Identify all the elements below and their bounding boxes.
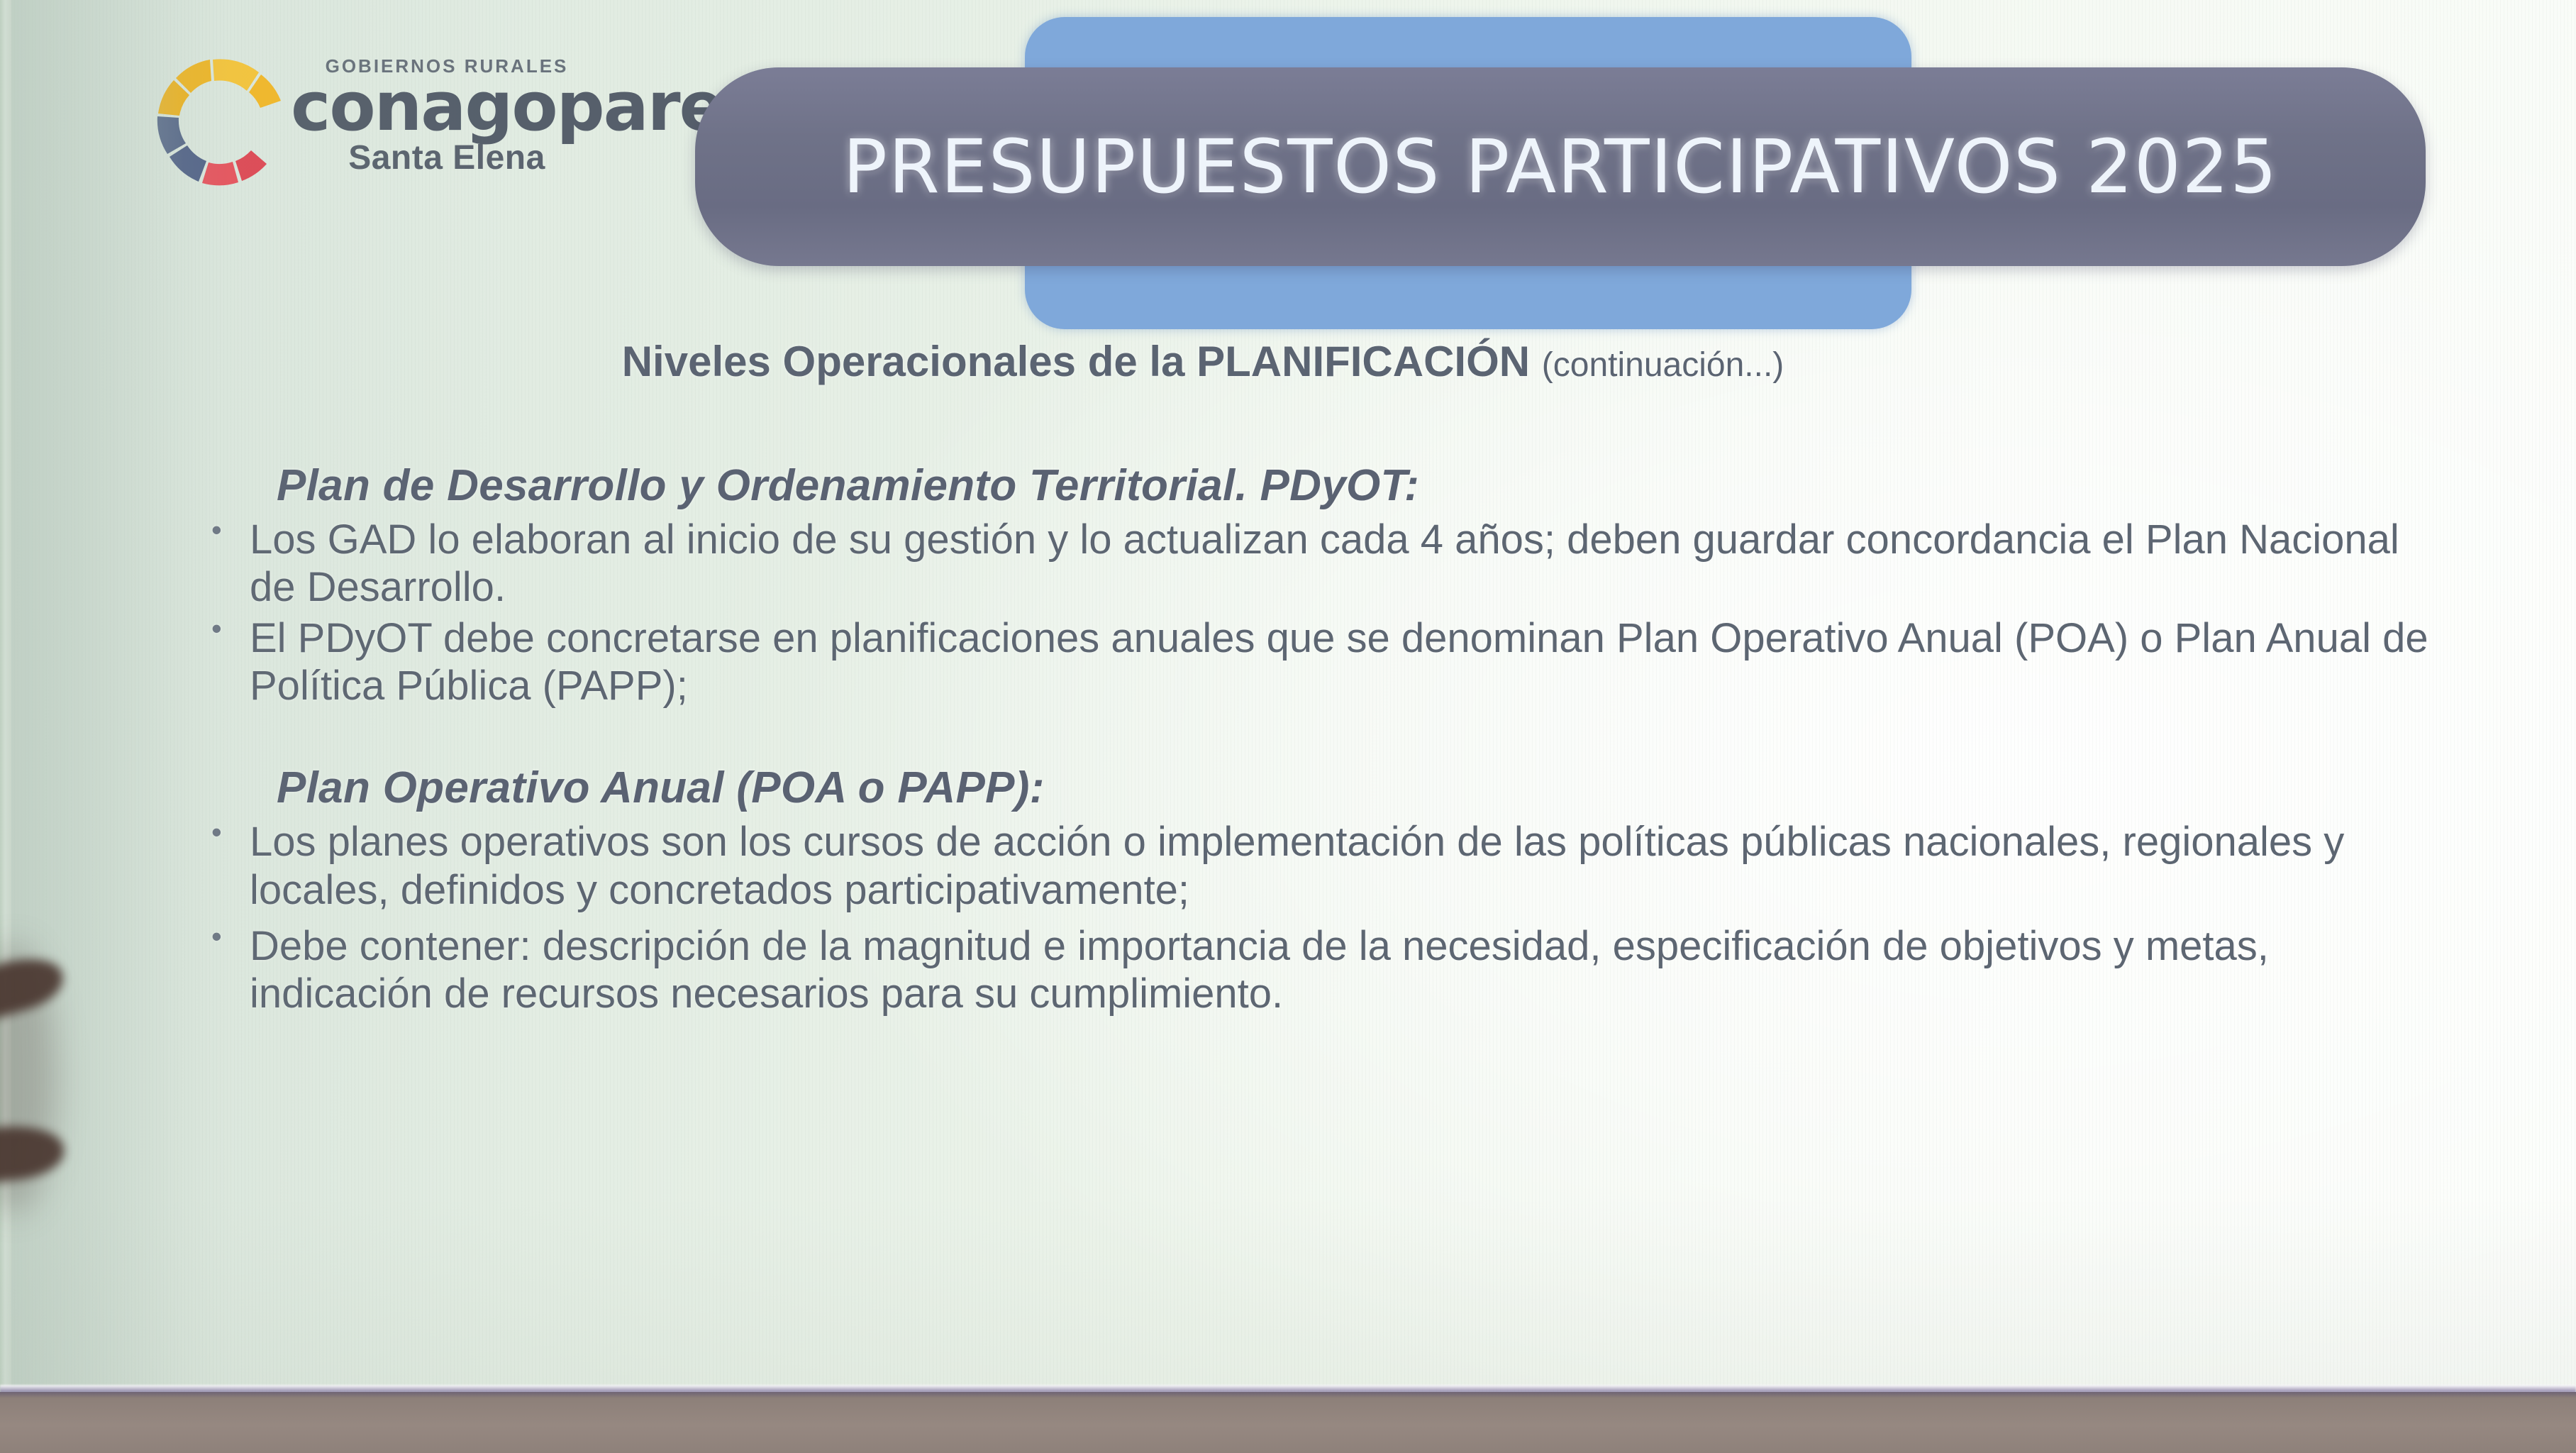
title-banner: PRESUPUESTOS PARTICIPATIVOS 2025 <box>695 67 2426 266</box>
logo-wordmark-group: GOBIERNOS RURALES conagopare Santa Elena <box>291 57 603 175</box>
conagopare-logo-mark-icon <box>149 51 291 193</box>
list-item: Debe contener: descripción de la magnitu… <box>199 922 2370 1018</box>
slide-title: PRESUPUESTOS PARTICIPATIVOS 2025 <box>843 123 2278 210</box>
wall-below-screen <box>0 1392 2576 1453</box>
section-heading-pdyot: Plan de Desarrollo y Ordenamiento Territ… <box>277 463 2576 509</box>
section-poa: Plan Operativo Anual (POA o PAPP): Los p… <box>0 765 2576 1017</box>
bullet-list-poa: Los planes operativos son los cursos de … <box>199 818 2370 1017</box>
list-item: Los GAD lo elaboran al inicio de su gest… <box>199 516 2455 612</box>
section-pdyot: Plan de Desarrollo y Ordenamiento Territ… <box>0 463 2576 709</box>
list-item: El PDyOT debe concretarse en planificaci… <box>199 614 2455 710</box>
hand-finger-lower <box>0 1121 67 1186</box>
section-heading-poa: Plan Operativo Anual (POA o PAPP): <box>277 765 2576 811</box>
logo-wordmark: conagopare <box>291 77 603 138</box>
conagopare-logo: GOBIERNOS RURALES conagopare Santa Elena <box>149 44 603 207</box>
bullet-list-pdyot: Los GAD lo elaboran al inicio de su gest… <box>199 516 2455 709</box>
slide-content: Niveles Operacionales de la PLANIFICACIÓ… <box>0 341 2576 1026</box>
subtitle-strong: Niveles Operacionales de la PLANIFICACIÓ… <box>622 338 1530 385</box>
logo-kicker: GOBIERNOS RURALES <box>291 57 603 75</box>
slide-subtitle: Niveles Operacionales de la PLANIFICACIÓ… <box>0 341 2576 383</box>
projection-screen: GOBIERNOS RURALES conagopare Santa Elena… <box>0 0 2576 1392</box>
logo-chapter: Santa Elena <box>291 141 603 175</box>
subtitle-continuation: (continuación...) <box>1542 346 1784 384</box>
list-item: Los planes operativos son los cursos de … <box>199 818 2370 914</box>
